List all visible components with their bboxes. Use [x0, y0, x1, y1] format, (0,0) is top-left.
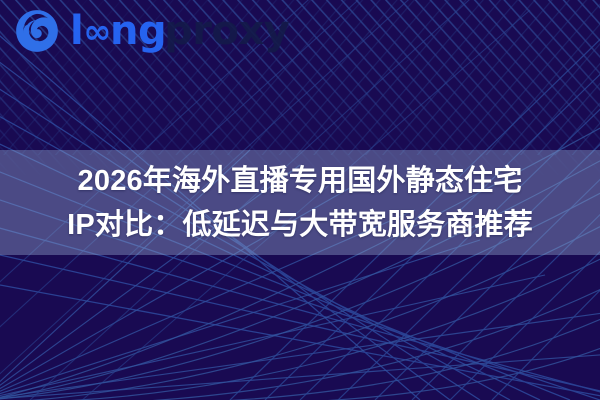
brand-logo[interactable]: l∞ng proxy — [14, 8, 289, 54]
promo-banner: l∞ng proxy 2026年海外直播专用国外静态住宅 IP对比：低延迟与大带… — [0, 0, 600, 400]
title-line-1: 2026年海外直播专用国外静态住宅 — [0, 159, 600, 203]
title-line-2: IP对比：低延迟与大带宽服务商推荐 — [0, 203, 600, 247]
brand-word-proxy: proxy — [164, 11, 289, 51]
brand-wordmark: l∞ng proxy — [70, 11, 289, 51]
brand-word-loong: l∞ng — [70, 11, 166, 51]
infinity-glyph: ∞ — [83, 15, 111, 49]
loong-dragon-spiral-icon — [14, 8, 60, 54]
title-band: 2026年海外直播专用国外静态住宅 IP对比：低延迟与大带宽服务商推荐 — [0, 150, 600, 255]
